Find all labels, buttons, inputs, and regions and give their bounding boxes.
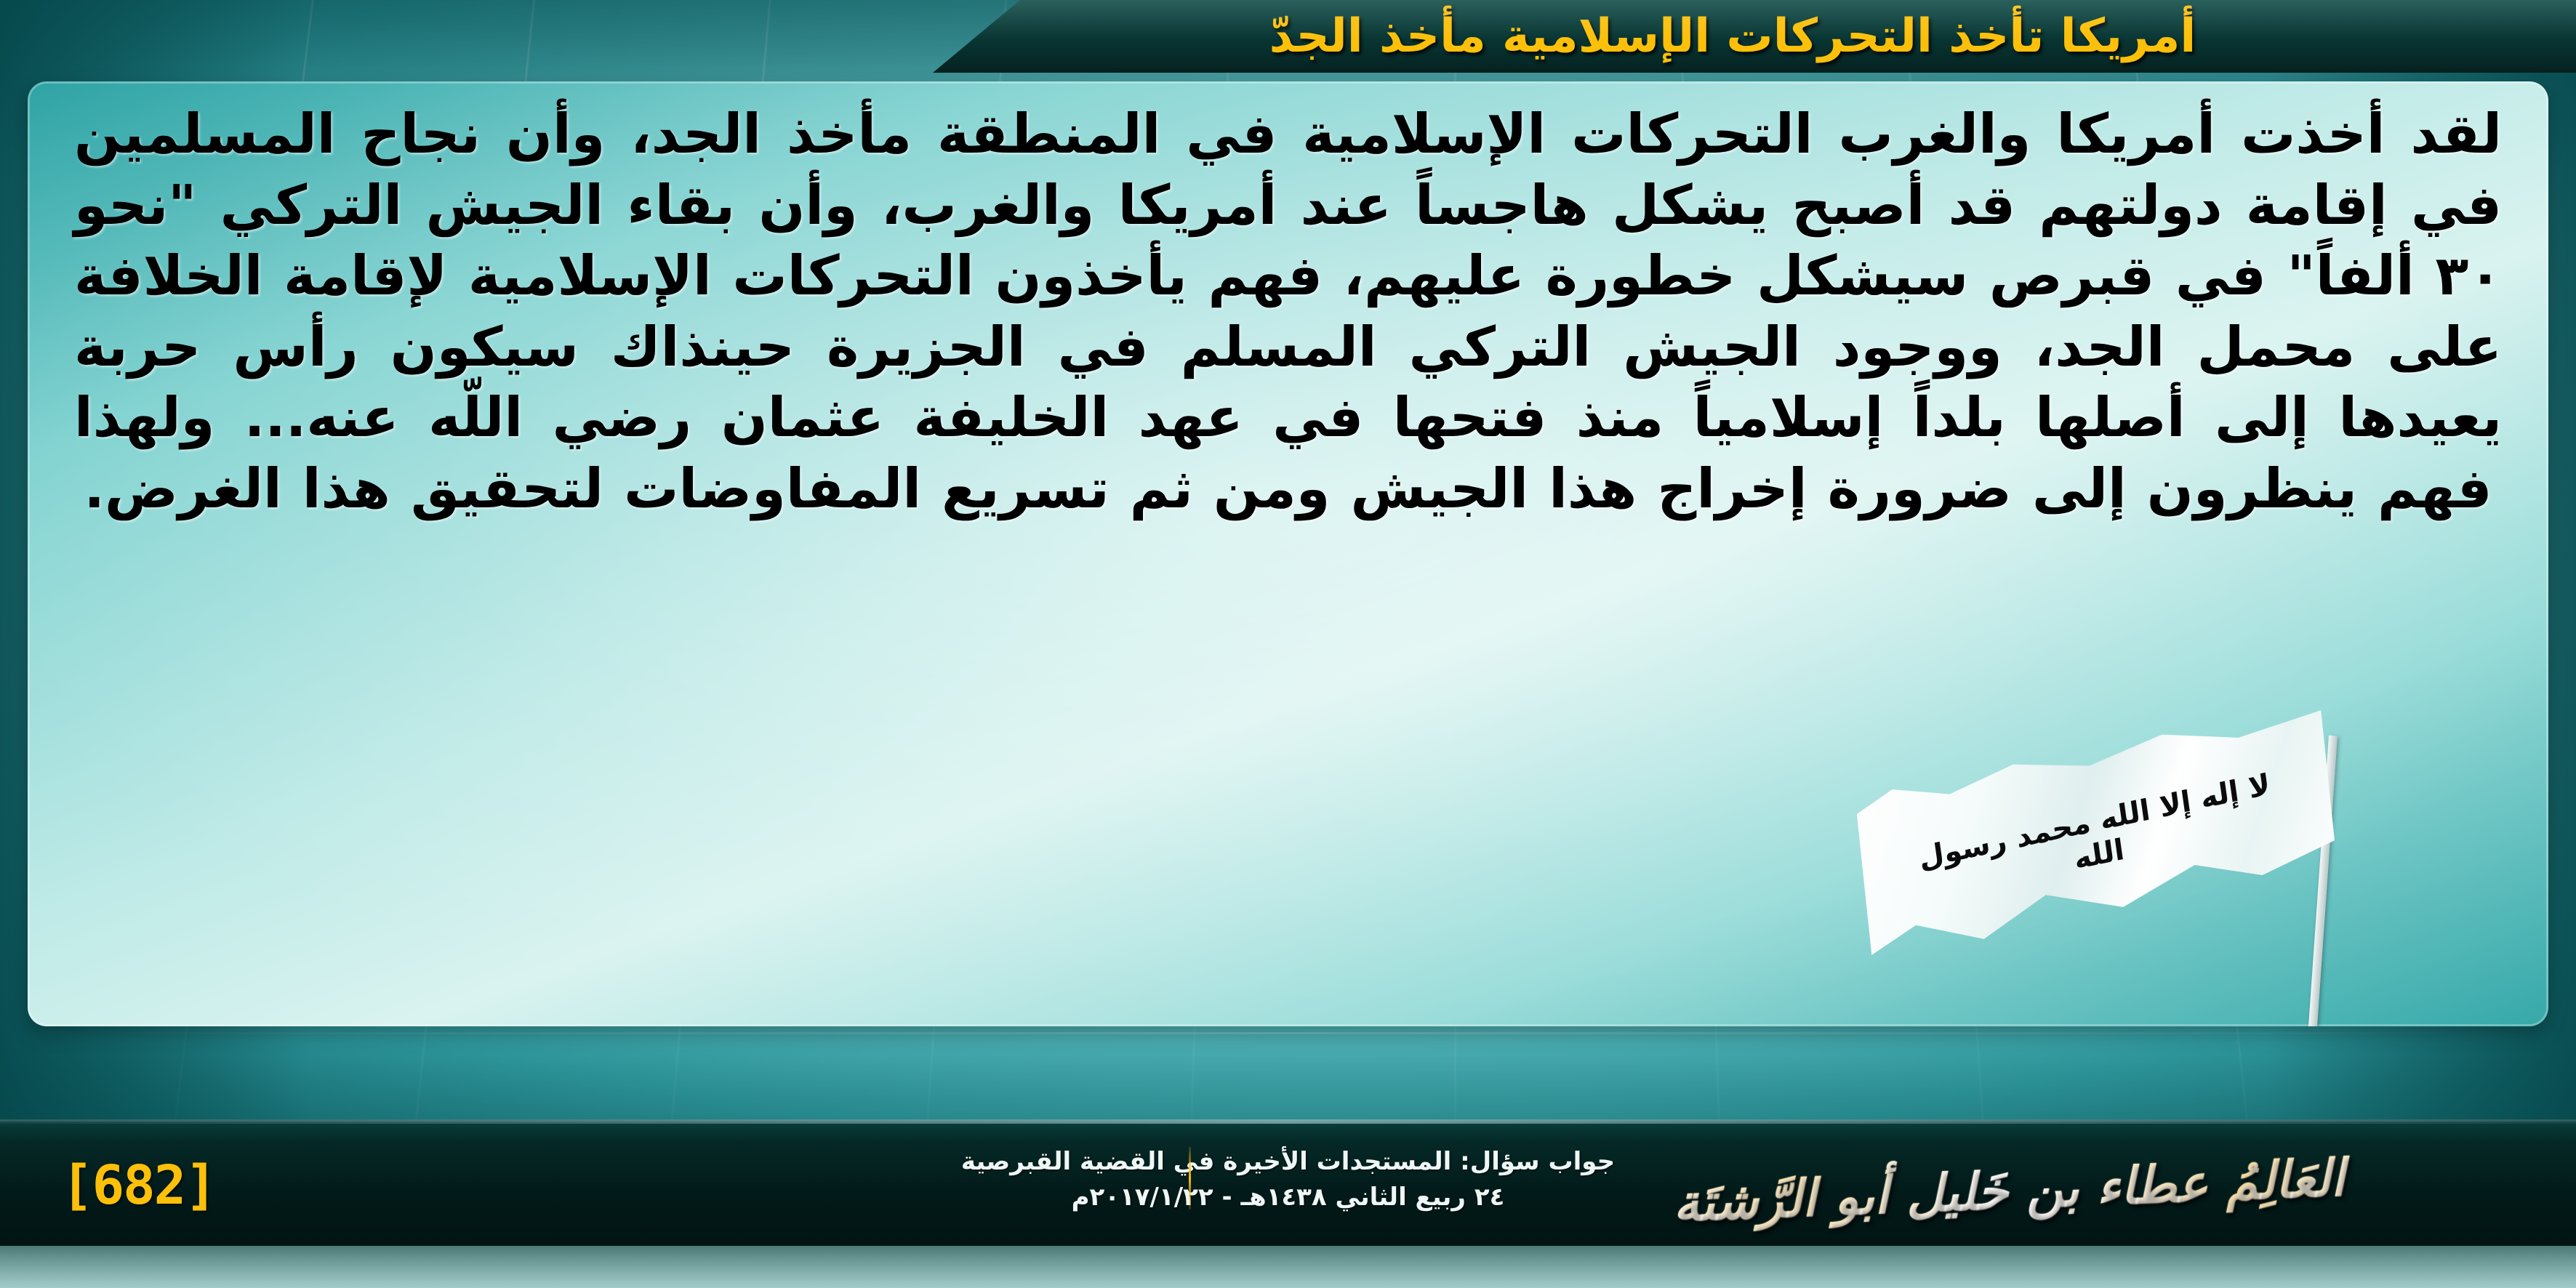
- footer-bottom-highlight: [0, 1246, 2576, 1288]
- footer-bar: [682] جواب سؤال: المستجدات الأخيرة في ال…: [0, 1119, 2576, 1288]
- page-title: أمريكا تأخذ التحركات الإسلامية مأخذ الجد…: [1269, 13, 2196, 60]
- header-banner: أمريكا تأخذ التحركات الإسلامية مأخذ الجد…: [933, 0, 2576, 73]
- footer-top-highlight: [0, 1119, 2576, 1124]
- poster-stage: أمريكا تأخذ التحركات الإسلامية مأخذ الجد…: [0, 0, 2576, 1288]
- article-paragraph: لقد أخذت أمريكا والغرب التحركات الإسلامي…: [74, 99, 2502, 524]
- content-panel-inner: لقد أخذت أمريكا والغرب التحركات الإسلامي…: [28, 81, 2548, 1026]
- article-body: لقد أخذت أمريكا والغرب التحركات الإسلامي…: [74, 99, 2502, 524]
- author-signature: العَالِمُ عطاء بن خَليل أبو الرَّشتَة: [1528, 1117, 2491, 1263]
- content-panel: لقد أخذت أمريكا والغرب التحركات الإسلامي…: [28, 81, 2548, 1026]
- footer-divider: [1189, 1147, 1191, 1209]
